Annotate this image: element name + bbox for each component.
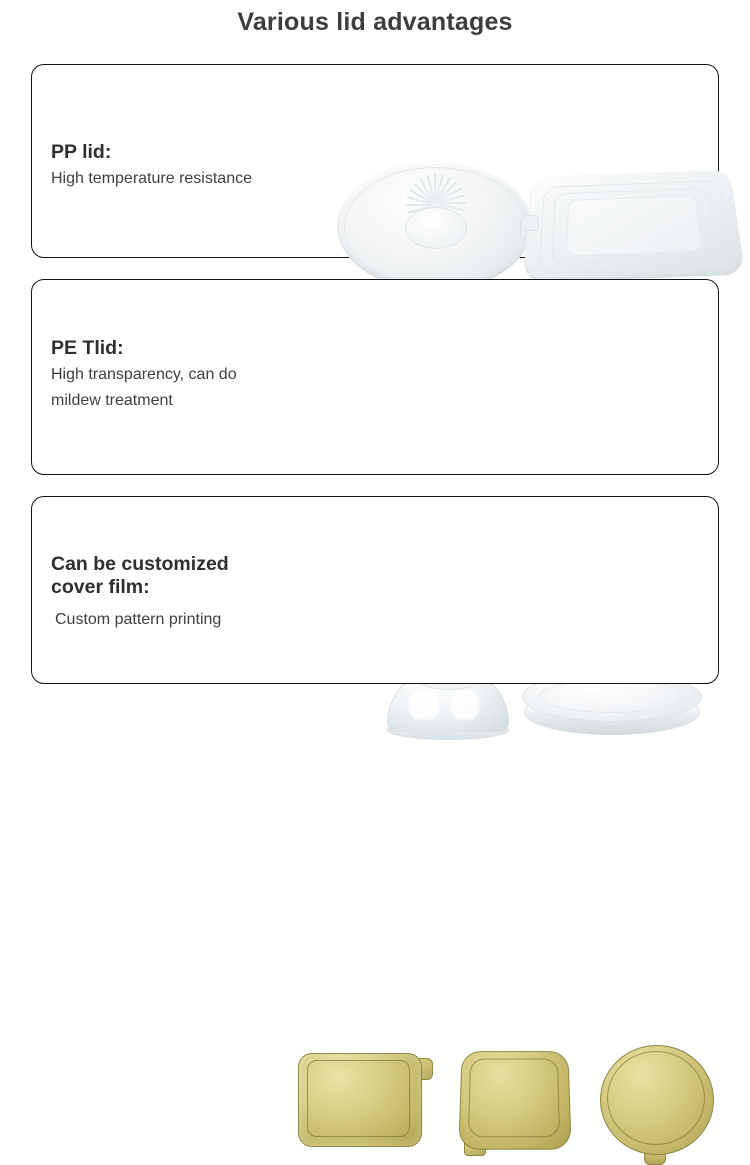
round-pp-lid-image xyxy=(337,161,532,291)
dome-pe-lid-ring xyxy=(387,720,509,740)
round-pp-lid-rib xyxy=(436,203,459,226)
round-pp-lid-rib xyxy=(428,204,438,233)
round-gold-film-body xyxy=(600,1045,714,1155)
panel-pe-tlid-heading: PE Tlid: xyxy=(51,337,237,360)
round-pp-lid-rib xyxy=(413,183,436,206)
round-pp-lid-rib xyxy=(436,203,453,230)
round-pp-lid-rib xyxy=(426,175,436,204)
square-gold-film-body xyxy=(458,1051,571,1150)
round-pp-lid-rim xyxy=(344,167,527,287)
round-pp-lid-rib xyxy=(421,204,438,231)
panel-cover-film-heading-line-1: Can be customized xyxy=(51,553,229,576)
round-pp-lid-rib xyxy=(434,175,444,204)
round-pp-lid-center xyxy=(405,207,467,249)
panel-cover-film-heading-line-2: cover film: xyxy=(51,576,229,599)
round-pp-lid-rib xyxy=(434,181,457,204)
rectangular-pp-lid-groove xyxy=(551,188,717,266)
panel-pp-lid-description: High temperature resistance xyxy=(51,167,252,190)
round-pp-lid-rib xyxy=(410,204,437,221)
round-pp-lid-rib xyxy=(434,177,451,204)
round-pp-lid-rib xyxy=(409,189,436,206)
round-pp-lid-rib xyxy=(406,196,435,206)
round-pp-lid-rib xyxy=(435,194,464,204)
panel-pp-lid: PP lid: High temperature resistance xyxy=(31,64,719,258)
round-gold-film-image xyxy=(600,1045,718,1161)
rectangular-pp-lid-image xyxy=(525,153,740,291)
round-pp-lid-rib xyxy=(436,202,466,204)
round-gold-film-tab xyxy=(644,1147,666,1165)
rectangular-pp-lid-tab xyxy=(521,215,540,232)
dome-pe-lid-highlight xyxy=(451,690,479,720)
round-pp-lid-rib xyxy=(406,204,436,206)
square-gold-film-tab xyxy=(464,1138,486,1156)
panel-pp-lid-heading: PP lid: xyxy=(51,141,252,164)
round-pp-lid-body xyxy=(337,161,532,291)
rectangular-pp-lid-body xyxy=(523,169,745,283)
rectangular-gold-film-border xyxy=(307,1060,410,1137)
round-pp-lid-rib xyxy=(435,187,462,204)
round-pp-lid-rib xyxy=(436,203,446,232)
round-pp-lid-rib xyxy=(414,204,437,227)
round-pp-lid-rib xyxy=(436,204,438,234)
panel-pe-tlid-description-line-1: High transparency, can do xyxy=(51,363,237,386)
round-pp-lid-tab xyxy=(520,217,542,239)
oval-pe-lid-panel xyxy=(540,679,684,713)
square-gold-film-image xyxy=(460,1049,572,1155)
rectangular-gold-film-image xyxy=(298,1053,420,1145)
panel-pe-tlid-text: PE Tlid: High transparency, can do milde… xyxy=(51,337,237,412)
infographic-page: Various lid advantages PP lid: High temp… xyxy=(0,0,750,713)
round-pp-lid-rib xyxy=(434,174,436,204)
round-pp-lid-rib xyxy=(419,178,436,205)
square-gold-film-border xyxy=(468,1058,560,1137)
panel-cover-film: Can be customized cover film: Custom pat… xyxy=(31,496,719,684)
round-gold-film-border xyxy=(607,1051,705,1145)
round-pp-lid-rib xyxy=(407,204,436,214)
panel-cover-film-text: Can be customized cover film: Custom pat… xyxy=(51,553,229,631)
round-pp-lid-rib xyxy=(436,202,463,219)
rectangular-gold-film-tab xyxy=(409,1058,433,1080)
panel-cover-film-description: Custom pattern printing xyxy=(51,608,229,631)
rectangular-gold-film-body xyxy=(298,1053,422,1147)
panel-pp-lid-text: PP lid: High temperature resistance xyxy=(51,141,252,190)
page-title: Various lid advantages xyxy=(0,8,750,37)
rectangular-pp-lid-groove xyxy=(538,180,731,274)
dome-pe-lid-highlight xyxy=(409,690,439,720)
panel-pe-tlid: PE Tlid: High transparency, can do milde… xyxy=(31,279,719,475)
round-pp-lid-rib xyxy=(436,202,465,212)
panel-pe-tlid-description-line-2: mildew treatment xyxy=(51,389,237,412)
rectangular-pp-lid-panel xyxy=(566,195,702,256)
